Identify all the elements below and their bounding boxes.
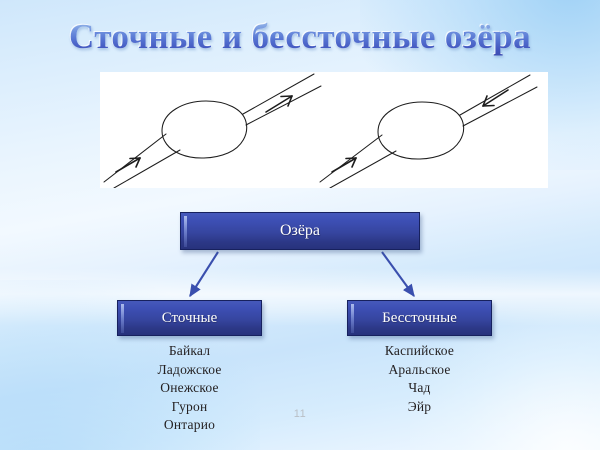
list-item: Ладожское xyxy=(117,361,262,380)
inflow-arrow-northeast xyxy=(483,90,508,106)
lake-outline xyxy=(378,102,464,159)
list-item: Аральское xyxy=(347,361,492,380)
inflow-arrow xyxy=(116,158,140,172)
slide-number: 11 xyxy=(276,408,324,420)
flowchart-node-drainage-label: Сточные xyxy=(162,310,218,327)
list-item: Онежское xyxy=(117,379,262,398)
inflow-arrow-southwest xyxy=(332,158,356,172)
flowchart-node-endorheic[interactable]: Бессточные xyxy=(347,300,492,336)
presentation-slide: Сточные и бессточные озёра xyxy=(0,0,600,450)
list-item: Байкал xyxy=(117,342,262,361)
drainage-lake-list: Байкал Ладожское Онежское Гурон Онтарио xyxy=(117,342,262,435)
illustration-panel xyxy=(100,72,548,188)
list-item: Каспийское xyxy=(347,342,492,361)
list-item: Гурон xyxy=(117,398,262,417)
lake-outline xyxy=(162,101,247,158)
flowchart-node-root-label: Озёра xyxy=(280,222,320,240)
endorheic-lake-diagram xyxy=(320,75,537,188)
list-item: Онтарио xyxy=(117,416,262,435)
list-item: Чад xyxy=(347,379,492,398)
river-in-sw-bank-b xyxy=(330,151,396,188)
endorheic-lake-list: Каспийское Аральское Чад Эйр xyxy=(347,342,492,416)
flowchart-node-root[interactable]: Озёра xyxy=(180,212,420,250)
flowchart-node-drainage[interactable]: Сточные xyxy=(117,300,262,336)
list-item: Эйр xyxy=(347,398,492,417)
lake-illustrations-svg xyxy=(100,72,548,188)
river-in-bank-b xyxy=(114,150,180,188)
flowchart-node-endorheic-label: Бессточные xyxy=(382,310,457,327)
drainage-lake-diagram xyxy=(104,74,321,188)
